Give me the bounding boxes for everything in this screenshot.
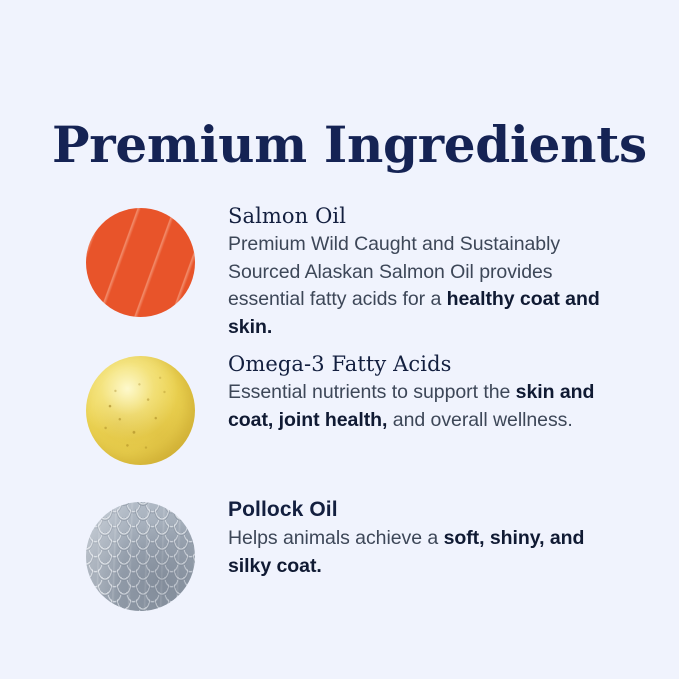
ingredient-swatch-wrap [86, 494, 196, 606]
ingredient-text: Pollock Oil Helps animals achieve a soft… [228, 494, 622, 580]
omega-oil-droplet-swatch [86, 356, 195, 465]
ingredient-text: Salmon Oil Premium Wild Caught and Susta… [228, 200, 622, 341]
ingredient-name: Salmon Oil [228, 202, 622, 230]
page-title: Premium Ingredients [52, 116, 647, 174]
ingredient-text: Omega-3 Fatty Acids Essential nutrients … [228, 348, 622, 434]
ingredient-row: Salmon Oil Premium Wild Caught and Susta… [0, 200, 679, 341]
salmon-fillet-swatch [86, 208, 195, 317]
ingredient-description: Helps animals achieve a soft, shiny, and… [228, 525, 622, 580]
pollock-scales-swatch [86, 502, 195, 611]
ingredient-name: Omega-3 Fatty Acids [228, 350, 622, 378]
ingredient-description: Essential nutrients to support the skin … [228, 379, 622, 434]
ingredient-row: Omega-3 Fatty Acids Essential nutrients … [0, 348, 679, 460]
ingredient-name: Pollock Oil [228, 496, 622, 524]
ingredient-description: Premium Wild Caught and Sustainably Sour… [228, 231, 622, 341]
ingredient-swatch-wrap [86, 348, 196, 460]
ingredient-row: Pollock Oil Helps animals achieve a soft… [0, 494, 679, 606]
ingredients-panel: Premium Ingredients Salmon Oil Premium W… [0, 0, 679, 679]
ingredient-swatch-wrap [86, 200, 196, 312]
